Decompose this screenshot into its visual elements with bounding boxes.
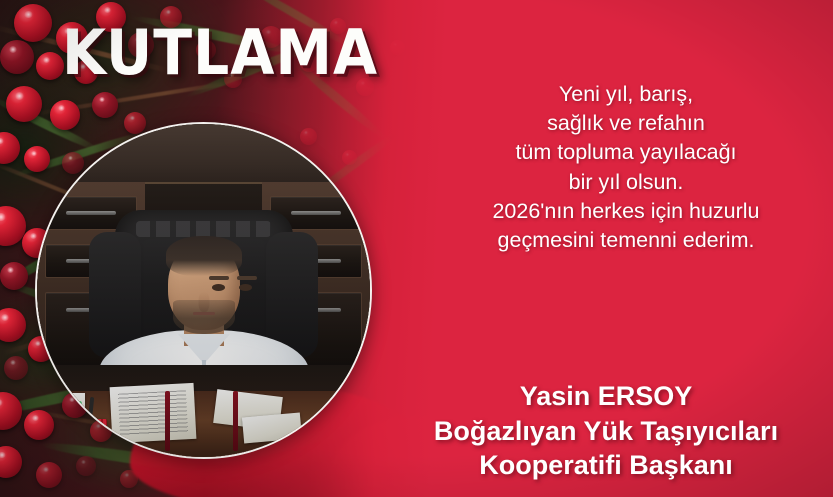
eye-right [239,284,252,291]
message-line-2: sağlık ve refahın [430,109,822,138]
message-line-3: tüm topluma yayılacağı [430,138,822,167]
message-line-4: bir yıl olsun. [430,168,822,197]
eyebrow-right [237,276,257,280]
message-line-5: 2026'nın herkes için huzurlu [430,197,822,226]
mouth [193,312,215,315]
beard [173,300,235,334]
pen-holder [73,419,107,449]
signatory-org-line-1: Boğazlıyan Yük Taşıyıcıları [388,414,824,449]
greeting-message: Yeni yıl, barış, sağlık ve refahın tüm t… [430,80,822,255]
desk-divider-right [233,391,238,451]
eye-left [212,284,225,291]
celebration-banner: KUTLAMA [0,0,833,497]
hair [166,236,242,276]
loose-paper-2 [242,413,302,444]
signatory-org-line-2: Kooperatifi Başkanı [388,448,824,483]
message-line-6: geçmesini temenni ederim. [430,226,822,255]
desk-divider-left [165,391,170,451]
open-document [110,383,197,443]
signatory-name: Yasin ERSOY [388,379,824,414]
signature-block: Yasin ERSOY Boğazlıyan Yük Taşıyıcıları … [388,379,824,483]
message-line-1: Yeni yıl, barış, [430,80,822,109]
eyebrow-left [209,276,229,280]
